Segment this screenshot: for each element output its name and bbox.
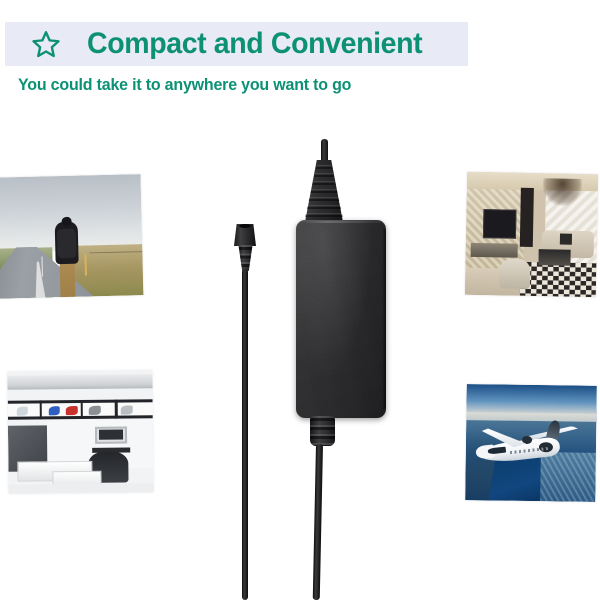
output-strain-relief xyxy=(310,416,335,446)
strain-relief-ribs xyxy=(238,245,253,271)
brick-right-shading xyxy=(382,228,386,410)
brick-surface-texture xyxy=(296,220,386,418)
strain-relief-ribs xyxy=(310,416,335,446)
input-strain-relief xyxy=(305,160,343,222)
strain-relief-ribs xyxy=(305,165,343,217)
dc-connector-strain-relief xyxy=(238,245,253,271)
power-brick xyxy=(296,220,386,418)
dc-connector-bore xyxy=(239,224,251,228)
ac-power-adapter xyxy=(0,0,600,600)
output-cable xyxy=(313,444,323,600)
dc-output-cable xyxy=(242,269,248,600)
brick-top-highlight xyxy=(300,221,380,223)
product-feature-banner-page: Compact and Convenient You could take it… xyxy=(0,0,600,600)
